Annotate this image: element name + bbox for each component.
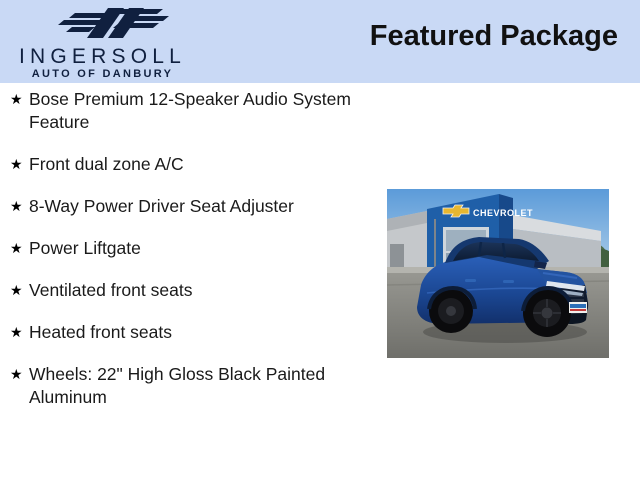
feature-label: Bose Premium 12-Speaker Audio System Fea… — [29, 88, 375, 134]
star-bullet-icon: ★ — [10, 153, 23, 176]
star-bullet-icon: ★ — [10, 88, 23, 111]
star-bullet-icon: ★ — [10, 363, 23, 386]
dealer-tagline: AUTO OF DANBURY — [0, 69, 205, 80]
star-bullet-icon: ★ — [10, 321, 23, 344]
dealer-name: INGERSOLL — [0, 46, 205, 67]
star-bullet-icon: ★ — [10, 195, 23, 218]
feature-label: Power Liftgate — [29, 237, 375, 260]
feature-label: 8-Way Power Driver Seat Adjuster — [29, 195, 375, 218]
dealership-sign-text: CHEVROLET — [473, 208, 533, 218]
star-bullet-icon: ★ — [10, 279, 23, 302]
vehicle-photo: CHEVROLET — [387, 189, 609, 358]
dealer-logo: INGERSOLL AUTO OF DANBURY — [0, 2, 210, 82]
feature-label: Heated front seats — [29, 321, 375, 344]
star-bullet-icon: ★ — [10, 237, 23, 260]
page-title: Featured Package — [370, 20, 618, 53]
list-item: ★ Wheels: 22" High Gloss Black Painted A… — [0, 363, 375, 409]
page-header: INGERSOLL AUTO OF DANBURY Featured Packa… — [0, 0, 640, 83]
list-item: ★ Heated front seats — [0, 321, 375, 344]
ingersoll-winged-monogram-icon — [45, 6, 170, 40]
list-item: ★ 8-Way Power Driver Seat Adjuster — [0, 195, 375, 218]
feature-label: Wheels: 22" High Gloss Black Painted Alu… — [29, 363, 375, 409]
feature-label: Ventilated front seats — [29, 279, 375, 302]
list-item: ★ Power Liftgate — [0, 237, 375, 260]
list-item: ★ Front dual zone A/C — [0, 153, 375, 176]
feature-list: ★ Bose Premium 12-Speaker Audio System F… — [0, 88, 375, 428]
feature-label: Front dual zone A/C — [29, 153, 375, 176]
list-item: ★ Ventilated front seats — [0, 279, 375, 302]
list-item: ★ Bose Premium 12-Speaker Audio System F… — [0, 88, 375, 134]
